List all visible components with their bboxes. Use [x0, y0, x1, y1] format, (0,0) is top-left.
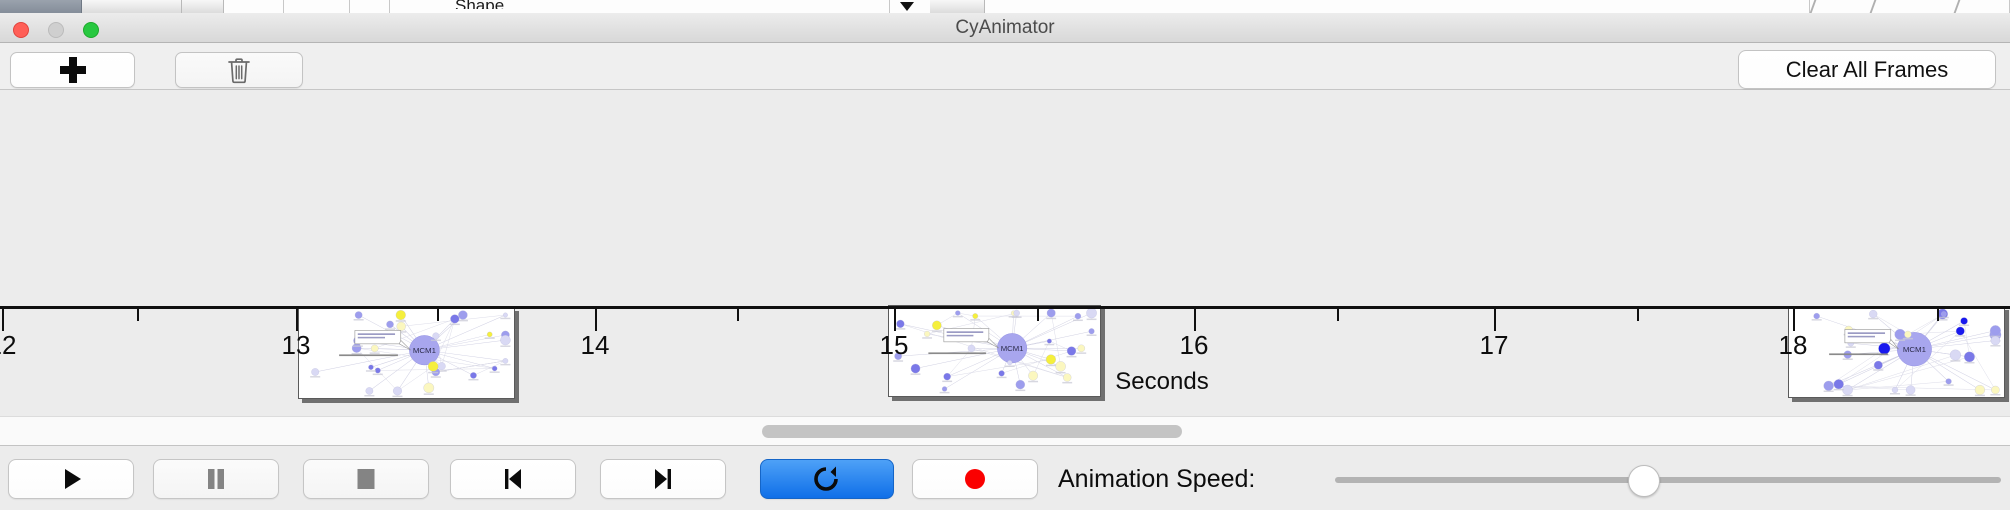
axis-tick-minor — [137, 309, 139, 321]
axis-tick-major — [296, 309, 298, 331]
svg-text:MCM1: MCM1 — [413, 346, 436, 355]
keyframe-thumbnail-2[interactable]: MCM1 — [888, 305, 1101, 397]
cyanimator-window: Shape CyAnimator Clear All Frames — [0, 0, 2010, 510]
skip-back-icon — [498, 465, 528, 493]
stop-icon — [352, 465, 380, 493]
axis-tick-label: 18 — [1779, 330, 1808, 361]
axis-tick-major — [1793, 309, 1795, 331]
axis-tick-major — [1494, 309, 1496, 331]
axis-tick-major — [894, 309, 896, 331]
animation-speed-label: Animation Speed: — [1058, 459, 1255, 499]
playback-control-bar: Animation Speed: — [0, 447, 2010, 510]
axis-tick-label: 12 — [0, 330, 16, 361]
axis-title: Seconds — [1115, 368, 1208, 396]
timeline-panel[interactable]: MCM1 MCM1 MCM1 — [0, 90, 2010, 416]
plus-icon — [60, 57, 86, 83]
axis-tick-minor — [1937, 309, 1939, 321]
stop-button[interactable] — [303, 459, 429, 499]
bg-segment — [284, 0, 350, 13]
background-window-strip: Shape — [0, 0, 2010, 13]
bg-column-label: Shape — [455, 0, 504, 9]
axis-tick-label: 14 — [581, 330, 610, 361]
scrollbar-thumb[interactable] — [762, 425, 1182, 438]
axis-tick-minor — [737, 309, 739, 321]
skip-to-end-button[interactable] — [600, 459, 726, 499]
axis-tick-minor — [1337, 309, 1339, 321]
axis-tick-major — [595, 309, 597, 331]
title-bar: CyAnimator — [0, 13, 2010, 43]
bg-segment — [182, 0, 224, 13]
bg-segment — [0, 0, 82, 13]
svg-text:MCM1: MCM1 — [1001, 344, 1024, 353]
axis-tick-label: 13 — [282, 330, 311, 361]
axis-tick-major — [2, 309, 4, 331]
add-frame-button[interactable] — [10, 52, 135, 88]
bg-segment — [930, 0, 985, 13]
toolbar: Clear All Frames — [0, 43, 2010, 90]
trash-icon — [227, 57, 251, 84]
bg-segment — [1810, 0, 2010, 13]
loop-button[interactable] — [760, 459, 894, 499]
pause-button[interactable] — [153, 459, 279, 499]
axis-tick-minor — [437, 309, 439, 321]
play-button[interactable] — [8, 459, 134, 499]
skip-forward-icon — [648, 465, 678, 493]
skip-to-start-button[interactable] — [450, 459, 576, 499]
loop-icon — [811, 464, 843, 494]
bg-segment — [350, 0, 390, 13]
clear-all-frames-label: Clear All Frames — [1786, 57, 1949, 83]
play-icon — [56, 464, 86, 494]
record-button[interactable] — [912, 459, 1038, 499]
axis-tick-label: 15 — [880, 330, 909, 361]
axis-tick-minor — [1037, 309, 1039, 321]
bg-sort-arrow-icon — [900, 2, 914, 11]
bg-segment — [224, 0, 284, 13]
axis-tick-label: 16 — [1180, 330, 1209, 361]
clear-all-frames-button[interactable]: Clear All Frames — [1738, 50, 1996, 89]
animation-speed-slider-thumb[interactable] — [1628, 465, 1660, 497]
axis-tick-label: 17 — [1480, 330, 1509, 361]
axis-tick-major — [1194, 309, 1196, 331]
svg-text:MCM1: MCM1 — [1903, 345, 1926, 354]
animation-speed-slider[interactable] — [1335, 477, 2001, 483]
record-icon — [961, 465, 989, 493]
timeline-scrollbar[interactable] — [0, 416, 2010, 446]
bg-segment — [82, 0, 182, 13]
axis-tick-minor — [1637, 309, 1639, 321]
pause-icon — [202, 465, 230, 493]
window-title: CyAnimator — [0, 13, 2010, 43]
keyframe-thumbnail-1[interactable]: MCM1 — [298, 307, 515, 399]
bg-segment — [985, 0, 1810, 13]
keyframe-thumbnail-3[interactable]: MCM1 — [1788, 306, 2005, 398]
delete-frame-button[interactable] — [175, 52, 303, 88]
timeline-axis — [0, 306, 2010, 309]
